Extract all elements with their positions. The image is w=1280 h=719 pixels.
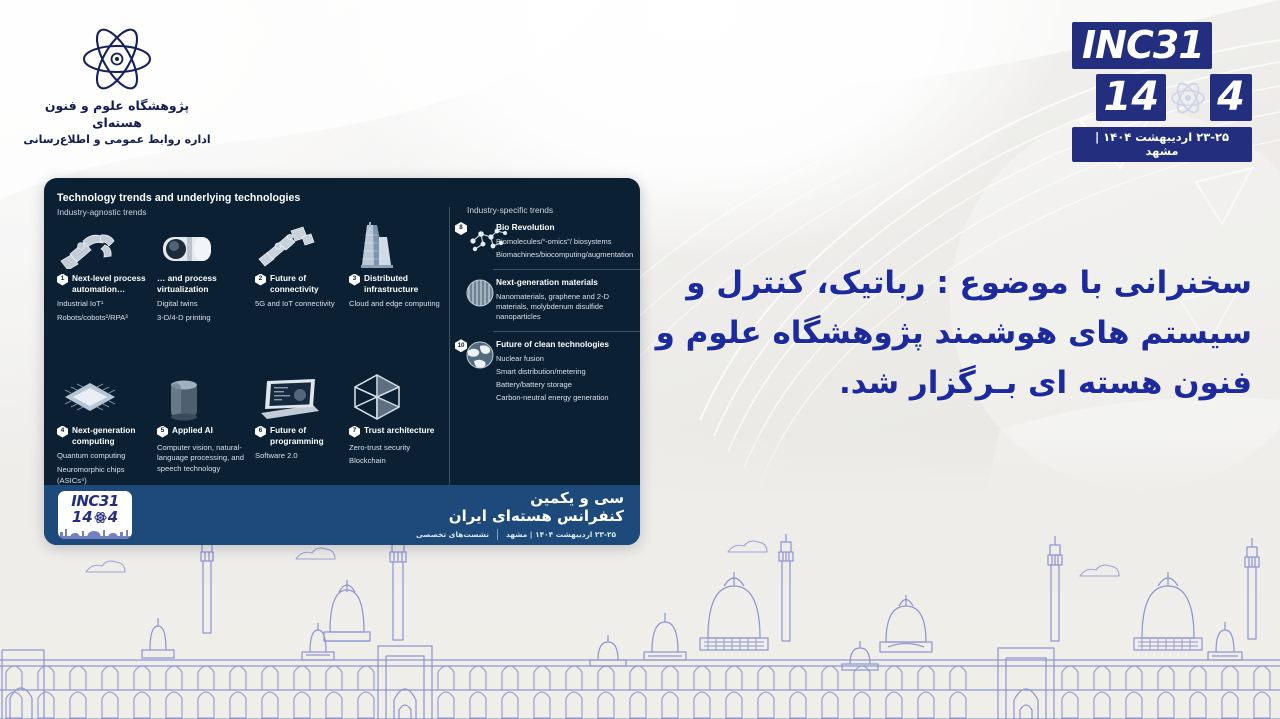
trend-item: Robots/cobots²/RPA³ (57, 313, 153, 324)
trend-item: Industrial IoT¹ (57, 299, 153, 310)
banner-year-left: 14 (72, 510, 93, 525)
trend-number-badge: 3 (349, 274, 360, 286)
specific-card-9: Next-generation materials Nanomaterials,… (457, 277, 640, 332)
microchip-icon (57, 373, 153, 421)
trend-7-head: 7 Trust architecture (349, 425, 445, 438)
robot-arm-icon (57, 221, 153, 269)
specific-item: Smart distribution/metering (496, 367, 640, 377)
specific-10-label: Future of clean technologies (496, 339, 640, 350)
specific-8-row: 8 (457, 222, 640, 263)
polyhedron-icon (349, 373, 445, 421)
smart-speaker-icon (157, 373, 253, 421)
conference-logo: INC31 14 4 ۲۳-۲۵ اردیبهشت ۱۴۰۴ | مشهد (1072, 22, 1252, 162)
trend-2-head: 2 Future of connectivity (255, 273, 351, 294)
conference-date-location: ۲۳-۲۵ اردیبهشت ۱۴۰۴ | مشهد (1072, 127, 1252, 162)
molecule-icon (463, 223, 509, 257)
banner-date-chip: ۲۳-۲۵ اردیبهشت ۱۴۰۴ | مشهد (498, 529, 624, 540)
trend-item: 5G and IoT connectivity (255, 299, 351, 310)
trend-item: Digital twins (157, 299, 253, 310)
atom-icon (74, 22, 160, 96)
banner-logo-badge: INC31 14 4 (58, 491, 132, 539)
mosque-skyline-icon (58, 526, 132, 539)
specific-item: Biomachines/biocomputing/augmentation (496, 250, 640, 260)
specific-item: Nanomaterials, graphene and 2-D material… (496, 292, 640, 322)
trend-item: 3-D/4-D printing (157, 313, 253, 324)
trend-card-2: 2 Future of connectivity 5G and IoT conn… (255, 221, 351, 313)
trend-3-head: 3 Distributed infrastructure (349, 273, 445, 294)
banner-meta: ۲۳-۲۵ اردیبهشت ۱۴۰۴ | مشهد نشست‌های تخصص… (142, 529, 624, 540)
satellite-icon (255, 221, 351, 269)
trend-number-badge: 4 (57, 426, 68, 438)
specific-8-text: Bio Revolution Biomolecules/“-omics”/ bi… (496, 222, 640, 263)
headline-line-1: سخنرانی با موضوع : رباتیک، کنترل و (632, 258, 1252, 308)
trend-1b-label: … and process virtualization (157, 273, 253, 294)
column-divider (449, 207, 450, 515)
atom-icon (93, 510, 108, 525)
trend-card-3: 3 Distributed infrastructure Cloud and e… (349, 221, 445, 313)
globe-icon (465, 340, 495, 370)
trend-6-items: Software 2.0 (255, 451, 351, 462)
conference-logo-year-row: 14 4 (1072, 74, 1252, 121)
trend-card-7: 7 Trust architecture Zero-trust security… (349, 373, 445, 470)
trend-item: Software 2.0 (255, 451, 351, 462)
banner-year-row: 14 4 (72, 510, 118, 525)
banner-year-right: 4 (108, 510, 118, 525)
trend-item: Blockchain (349, 456, 445, 467)
trend-3-items: Cloud and edge computing (349, 299, 445, 310)
banner-session-chip: نشست‌های تخصصی (408, 529, 498, 540)
tablet-code-icon (255, 373, 351, 421)
trend-card-6: 6 Future of programming Software 2.0 (255, 373, 351, 465)
slide-title: Technology trends and underlying technol… (57, 192, 627, 204)
trend-1-items: Industrial IoT¹ Robots/cobots²/RPA³ (57, 299, 153, 324)
presentation-slide-image: Technology trends and underlying technol… (44, 178, 640, 545)
trend-5-head: 5 Applied AI (157, 425, 253, 438)
trend-card-1b: … and process virtualization Digital twi… (157, 221, 253, 327)
trend-number-badge: 5 (157, 426, 168, 438)
banner-acronym: INC31 (71, 494, 119, 509)
banner-line-2: کنفرانس هسته‌ای ایران (142, 508, 624, 525)
conference-banner: INC31 14 4 (44, 485, 640, 545)
nanomaterial-sphere-icon (465, 278, 495, 308)
specific-8-label: Bio Revolution (496, 222, 640, 233)
specific-10-text: Future of clean technologies Nuclear fus… (496, 339, 640, 406)
trend-4-items: Quantum computing Neuromorphic chips (AS… (57, 451, 153, 486)
server-tower-icon (349, 221, 445, 269)
specific-9-text: Next-generation materials Nanomaterials,… (496, 277, 640, 325)
trend-4-label: Next-generation computing (72, 425, 153, 446)
trend-4-head: 4 Next-generation computing (57, 425, 153, 446)
vr-headset-icon (157, 221, 253, 269)
specific-9-iconwrap (457, 277, 491, 325)
trend-item: Cloud and edge computing (349, 299, 445, 310)
specific-card-8: 8 (457, 222, 640, 270)
atom-icon (1166, 75, 1210, 121)
specific-9-row: Next-generation materials Nanomaterials,… (457, 277, 640, 325)
headline-line-3: فنون هسته ای بـرگزار شد. (632, 358, 1252, 408)
conference-acronym: INC31 (1072, 22, 1212, 69)
specific-item: Biomolecules/“-omics”/ biosystems (496, 237, 640, 247)
trend-3-label: Distributed infrastructure (364, 273, 445, 294)
trend-item: Zero-trust security (349, 443, 445, 454)
specific-10-iconwrap: 10 (457, 339, 491, 406)
specific-8-iconwrap: 8 (457, 222, 491, 263)
trend-2-items: 5G and IoT connectivity (255, 299, 351, 310)
trend-card-1: 1 Next-level process automation… Industr… (57, 221, 153, 327)
conference-year-right: 4 (1210, 74, 1252, 121)
trend-5-label: Applied AI (172, 425, 213, 436)
trend-number-badge: 6 (255, 426, 266, 438)
trend-number-badge: 2 (255, 274, 266, 286)
trend-1b-head: … and process virtualization (157, 273, 253, 294)
agnostic-grid: 1 Next-level process automation… Industr… (57, 221, 445, 521)
institute-logo: پژوهشگاه علوم و فنون هسته‌ای اداره روابط… (22, 22, 212, 147)
trend-1-head: 1 Next-level process automation… (57, 273, 153, 294)
headline-line-2: سیستم های هوشمند پژوهشگاه علوم و (632, 308, 1252, 358)
trend-number-badge: 1 (57, 274, 68, 286)
specific-9-label: Next-generation materials (496, 277, 640, 288)
trend-item: Quantum computing (57, 451, 153, 462)
trend-7-label: Trust architecture (364, 425, 434, 436)
headline: سخنرانی با موضوع : رباتیک، کنترل و سیستم… (632, 258, 1252, 409)
trend-5-items: Computer vision, natural-language proces… (157, 443, 253, 475)
conference-year-left: 14 (1096, 74, 1166, 121)
slide-body: 1 Next-level process automation… Industr… (57, 221, 627, 521)
banner-line-1: سی و یکمین (142, 490, 624, 507)
trend-6-head: 6 Future of programming (255, 425, 351, 446)
conference-atom-slot (1166, 75, 1210, 121)
specific-10-row: 10 (457, 339, 640, 406)
trend-item: Computer vision, natural-language proces… (157, 443, 253, 475)
specific-item: Battery/battery storage (496, 380, 640, 390)
trend-1-label: Next-level process automation… (72, 273, 153, 294)
trend-2-label: Future of connectivity (270, 273, 351, 294)
banner-text-block: سی و یکمین کنفرانس هسته‌ای ایران ۲۳-۲۵ ا… (142, 490, 626, 540)
industry-specific-column: Industry-specific trends 8 (457, 205, 640, 521)
trend-card-4: 4 Next-generation computing Quantum comp… (57, 373, 153, 490)
trend-item: Neuromorphic chips (ASICs⁴) (57, 465, 153, 487)
institute-name: پژوهشگاه علوم و فنون هسته‌ای (22, 98, 212, 132)
trend-7-items: Zero-trust security Blockchain (349, 443, 445, 468)
specific-card-10: 10 (457, 339, 640, 413)
specific-item: Carbon-neutral energy generation (496, 393, 640, 403)
institute-department: اداره روابط عمومی و اطلاع‌رسانی (22, 132, 212, 147)
trend-6-label: Future of programming (270, 425, 351, 446)
slide-subtitle-specific: Industry-specific trends (457, 205, 640, 215)
industry-agnostic-column: 1 Next-level process automation… Industr… (57, 221, 445, 521)
specific-item: Nuclear fusion (496, 354, 640, 364)
trend-number-badge: 7 (349, 426, 360, 438)
conference-logo-top: INC31 (1072, 22, 1252, 69)
trend-1b-items: Digital twins 3-D/4-D printing (157, 299, 253, 324)
trend-card-5: 5 Applied AI Computer vision, natural-la… (157, 373, 253, 478)
